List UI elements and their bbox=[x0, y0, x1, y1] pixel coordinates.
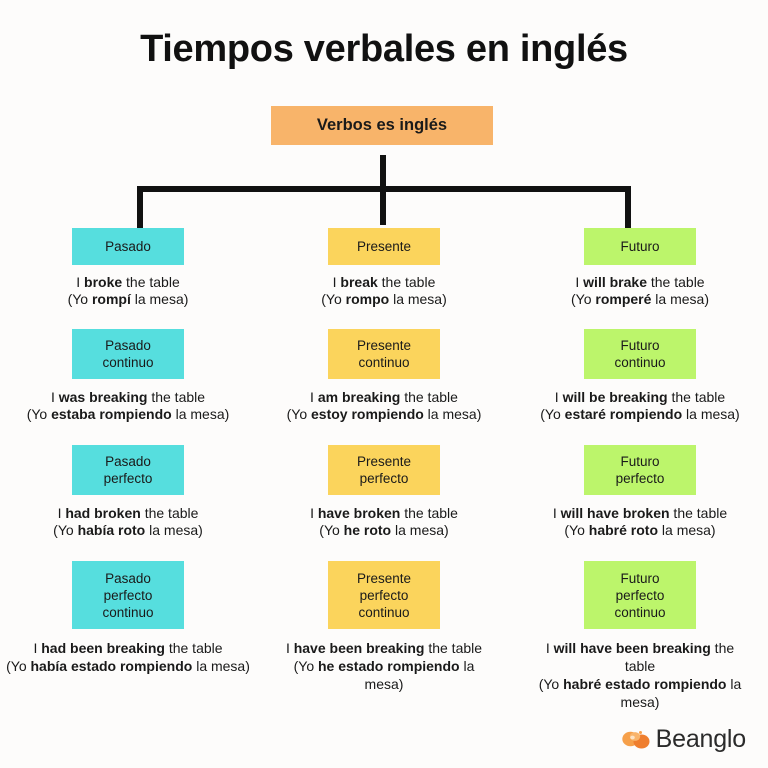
brand-logo: Beanglo bbox=[621, 725, 746, 754]
tense-cell-pasado: Pasado I broke the table (Yo rompí la me… bbox=[0, 228, 256, 308]
tense-box-label: Pasadocontinuo bbox=[102, 337, 153, 371]
tense-box-label: Pasadoperfecto bbox=[104, 453, 153, 487]
root-node-label: Verbos es inglés bbox=[317, 116, 447, 135]
example-spanish: (Yo había roto la mesa) bbox=[53, 522, 203, 539]
example-spanish: (Yo habré estado rompiendo la mesa) bbox=[536, 675, 744, 711]
tense-examples-pasado-perfecto: I had broken the table (Yo había roto la… bbox=[51, 505, 205, 539]
tense-box-futuro[interactable]: Futuro bbox=[584, 228, 696, 265]
example-english: I had been breaking the table bbox=[4, 639, 252, 657]
tense-cell-pasado-continuo: Pasadocontinuo I was breaking the table … bbox=[0, 308, 256, 423]
tense-examples-futuro: I will brake the table (Yo romperé la me… bbox=[569, 274, 711, 308]
example-spanish: (Yo había estado rompiendo la mesa) bbox=[4, 657, 252, 675]
tense-row-continuo: Pasadocontinuo I was breaking the table … bbox=[0, 308, 768, 423]
example-spanish: (Yo estaré rompiendo la mesa) bbox=[540, 406, 739, 423]
example-spanish: (Yo rompo la mesa) bbox=[321, 291, 447, 308]
tense-examples-presente: I break the table (Yo rompo la mesa) bbox=[319, 274, 449, 308]
tense-cell-presente-perfecto-continuo: Presenteperfectocontinuo I have been bre… bbox=[256, 539, 512, 711]
page-title: Tiempos verbales en inglés bbox=[0, 28, 768, 71]
tense-examples-pasado-perfecto-continuo: I had been breaking the table (Yo había … bbox=[2, 639, 254, 675]
tense-cell-presente: Presente I break the table (Yo rompo la … bbox=[256, 228, 512, 308]
bean-icon bbox=[621, 728, 651, 752]
tense-box-presente-perfecto[interactable]: Presenteperfecto bbox=[328, 445, 440, 495]
example-english: I will have broken the table bbox=[553, 505, 727, 522]
tense-box-label: Presente bbox=[357, 238, 411, 255]
example-english: I have broken the table bbox=[310, 505, 458, 522]
tense-box-presente-continuo[interactable]: Presentecontinuo bbox=[328, 329, 440, 379]
tense-cell-futuro-perfecto: Futuroperfecto I will have broken the ta… bbox=[512, 423, 768, 539]
tense-examples-futuro-continuo: I will be breaking the table (Yo estaré … bbox=[538, 389, 741, 423]
tense-box-presente-perfecto-continuo[interactable]: Presenteperfectocontinuo bbox=[328, 561, 440, 629]
example-spanish: (Yo estoy rompiendo la mesa) bbox=[287, 406, 482, 423]
tense-row-simple: Pasado I broke the table (Yo rompí la me… bbox=[0, 228, 768, 308]
tense-cell-futuro: Futuro I will brake the table (Yo romper… bbox=[512, 228, 768, 308]
example-english: I am breaking the table bbox=[287, 389, 482, 406]
tense-grid: Pasado I broke the table (Yo rompí la me… bbox=[0, 228, 768, 711]
tense-examples-presente-perfecto: I have broken the table (Yo he roto la m… bbox=[308, 505, 460, 539]
tense-box-futuro-perfecto[interactable]: Futuroperfecto bbox=[584, 445, 696, 495]
tense-examples-presente-continuo: I am breaking the table (Yo estoy rompie… bbox=[285, 389, 484, 423]
brand-name: Beanglo bbox=[656, 725, 746, 754]
tense-cell-futuro-continuo: Futurocontinuo I will be breaking the ta… bbox=[512, 308, 768, 423]
tense-box-label: Presentecontinuo bbox=[357, 337, 411, 371]
tense-box-futuro-continuo[interactable]: Futurocontinuo bbox=[584, 329, 696, 379]
connector-horizontal-bar bbox=[137, 186, 631, 192]
tense-box-label: Pasadoperfectocontinuo bbox=[102, 570, 153, 621]
tense-examples-futuro-perfecto: I will have broken the table (Yo habré r… bbox=[551, 505, 729, 539]
tense-row-perfecto: Pasadoperfecto I had broken the table (Y… bbox=[0, 423, 768, 539]
example-spanish: (Yo he estado rompiendo la mesa) bbox=[284, 657, 484, 693]
tense-box-label: Futuro bbox=[620, 238, 659, 255]
tense-examples-futuro-perfecto-continuo: I will have been breaking the table (Yo … bbox=[534, 639, 746, 711]
example-spanish: (Yo romperé la mesa) bbox=[571, 291, 709, 308]
example-english: I will brake the table bbox=[571, 274, 709, 291]
tense-box-futuro-perfecto-continuo[interactable]: Futuroperfectocontinuo bbox=[584, 561, 696, 629]
tense-cell-pasado-perfecto: Pasadoperfecto I had broken the table (Y… bbox=[0, 423, 256, 539]
tense-box-label: Presenteperfecto bbox=[357, 453, 411, 487]
example-english: I will be breaking the table bbox=[540, 389, 739, 406]
tense-box-label: Presenteperfectocontinuo bbox=[357, 570, 411, 621]
tense-examples-pasado: I broke the table (Yo rompí la mesa) bbox=[66, 274, 191, 308]
example-english: I break the table bbox=[321, 274, 447, 291]
tense-cell-pasado-perfecto-continuo: Pasadoperfectocontinuo I had been breaki… bbox=[0, 539, 256, 711]
connector-drop-future bbox=[625, 186, 631, 228]
tense-box-label: Futuroperfecto bbox=[616, 453, 665, 487]
tense-cell-futuro-perfecto-continuo: Futuroperfectocontinuo I will have been … bbox=[512, 539, 768, 711]
example-english: I will have been breaking the table bbox=[536, 639, 744, 675]
tense-cell-presente-continuo: Presentecontinuo I am breaking the table… bbox=[256, 308, 512, 423]
example-spanish: (Yo estaba rompiendo la mesa) bbox=[27, 406, 230, 423]
tense-box-pasado-perfecto[interactable]: Pasadoperfecto bbox=[72, 445, 184, 495]
tense-box-label: Futuroperfectocontinuo bbox=[614, 570, 665, 621]
tense-box-presente[interactable]: Presente bbox=[328, 228, 440, 265]
tense-examples-pasado-continuo: I was breaking the table (Yo estaba romp… bbox=[25, 389, 232, 423]
example-english: I was breaking the table bbox=[27, 389, 230, 406]
example-english: I had broken the table bbox=[53, 505, 203, 522]
tense-box-pasado-perfecto-continuo[interactable]: Pasadoperfectocontinuo bbox=[72, 561, 184, 629]
example-spanish: (Yo he roto la mesa) bbox=[310, 522, 458, 539]
tense-box-pasado-continuo[interactable]: Pasadocontinuo bbox=[72, 329, 184, 379]
tense-row-perfecto-continuo: Pasadoperfectocontinuo I had been breaki… bbox=[0, 539, 768, 711]
tense-cell-presente-perfecto: Presenteperfecto I have broken the table… bbox=[256, 423, 512, 539]
tense-examples-presente-perfecto-continuo: I have been breaking the table (Yo he es… bbox=[282, 639, 486, 693]
example-spanish: (Yo habré roto la mesa) bbox=[553, 522, 727, 539]
tense-box-label: Pasado bbox=[105, 238, 151, 255]
example-spanish: (Yo rompí la mesa) bbox=[68, 291, 189, 308]
example-english: I have been breaking the table bbox=[284, 639, 484, 657]
connector-drop-past bbox=[137, 186, 143, 228]
tense-box-label: Futurocontinuo bbox=[614, 337, 665, 371]
tense-box-pasado[interactable]: Pasado bbox=[72, 228, 184, 265]
root-node-verbos: Verbos es inglés bbox=[271, 106, 493, 145]
example-english: I broke the table bbox=[68, 274, 189, 291]
